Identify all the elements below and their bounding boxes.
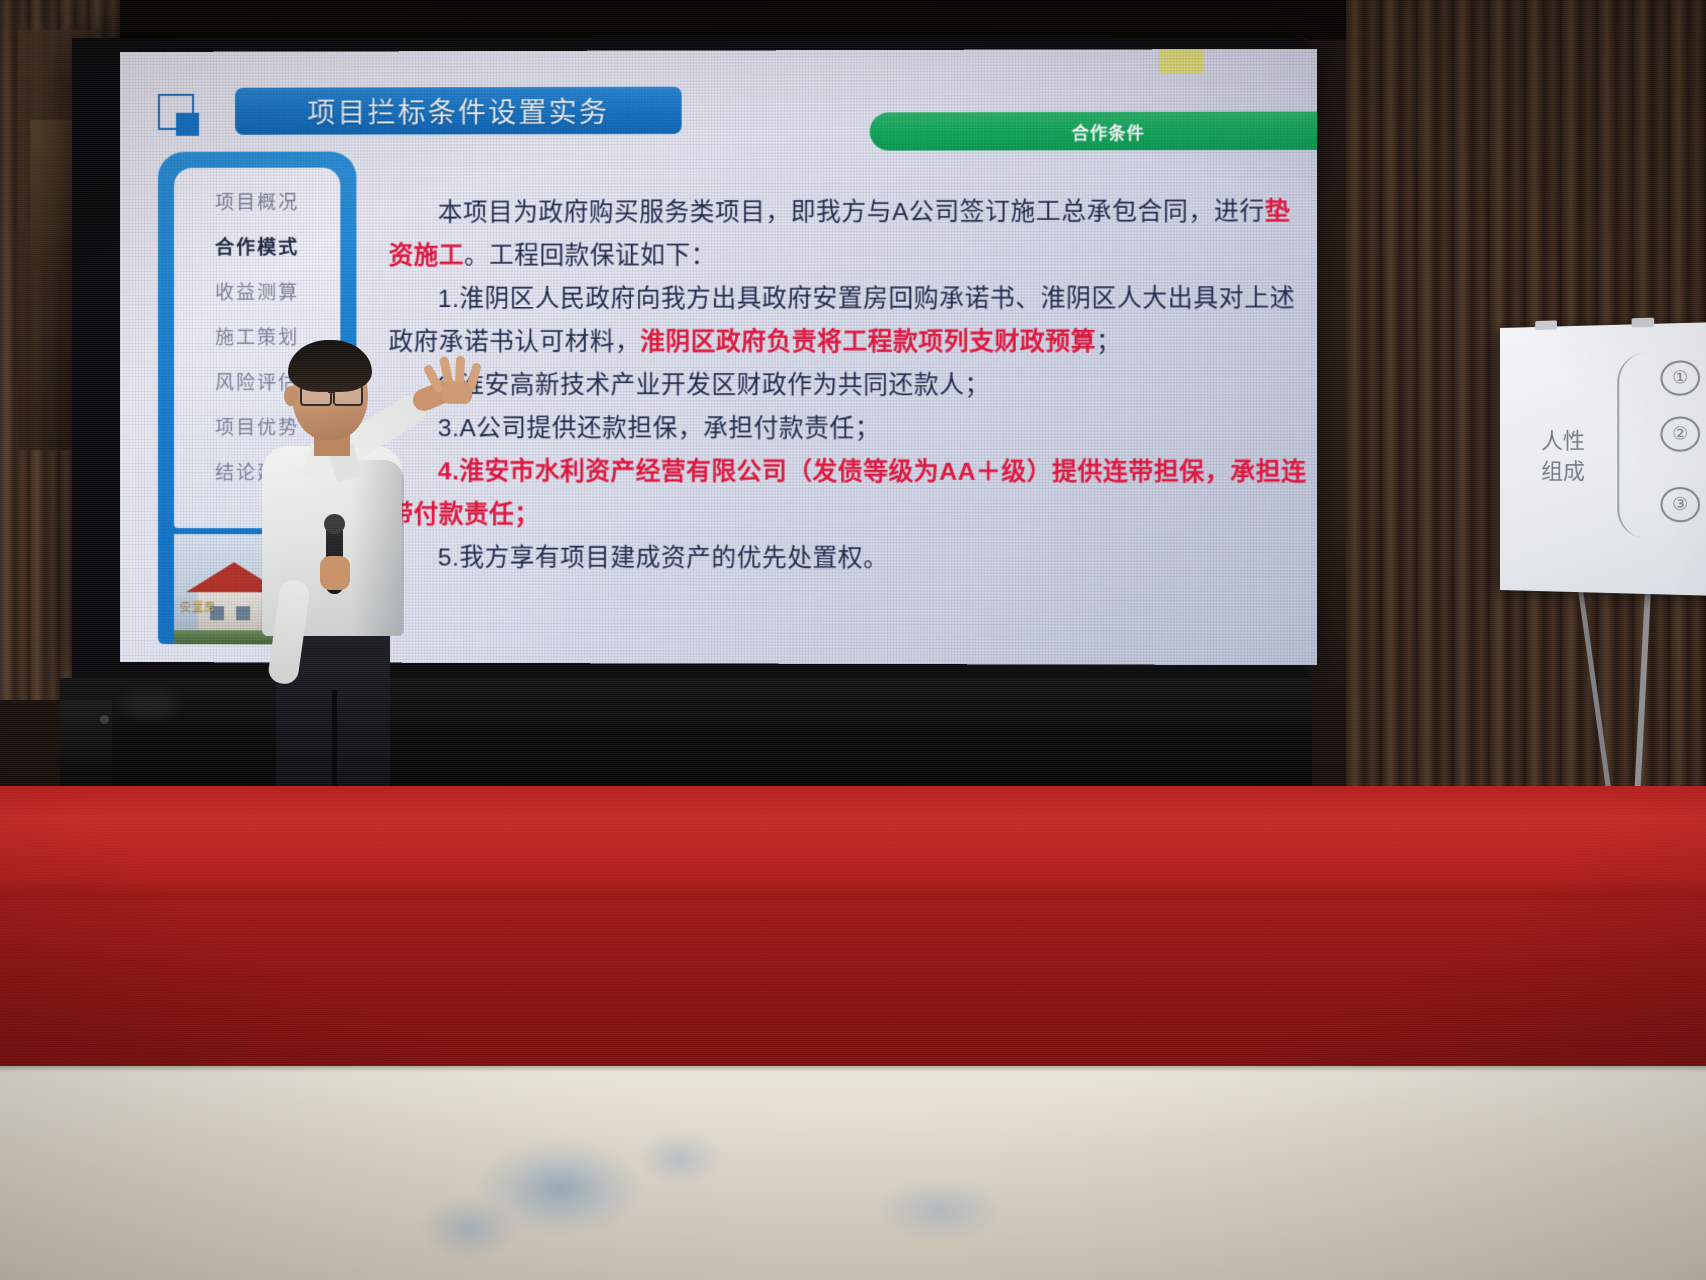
intro-text-b: 。工程回款保证如下： xyxy=(464,242,716,269)
slide-body: 本项目为政府购买服务类项目，即我方与A公司签订施工总承包合同，进行垫 资施工。工… xyxy=(389,190,1270,581)
presenter-shirt-shading xyxy=(350,460,404,636)
sidebar-item-label: 项目概况 xyxy=(215,187,299,214)
presenter-hand-on-mic xyxy=(320,556,350,590)
slide-top-accent xyxy=(1159,49,1204,73)
body-line-5: 2.淮安高新技术产业开发区财政作为共同还款人； xyxy=(389,364,1270,407)
intro-text-a: 本项目为政府购买服务类项目，即我方与A公司签订施工总承包合同，进行 xyxy=(438,198,1265,226)
microphone-head xyxy=(324,514,345,534)
list-item-1-line-1: 1.淮阴区人民政府向我方出具政府安置房回购承诺书、淮阴区人大出具对上述 xyxy=(438,285,1295,313)
presentation-scene-photo: 项目拦标条件设置实务 合作条件 项目概况 合作模式 收益测算 xyxy=(0,0,1706,1280)
slide-title-pill: 项目拦标条件设置实务 xyxy=(235,87,682,135)
page-title: 项目拦标条件设置实务 xyxy=(307,90,609,131)
body-line-2: 资施工。工程回款保证如下： xyxy=(389,234,1270,278)
section-banner-label: 合作条件 xyxy=(1072,118,1145,143)
whiteboard-brace-stroke xyxy=(1617,353,1646,538)
sidebar-item-revenue-estimate[interactable]: 收益测算 xyxy=(174,272,340,310)
list-item-1-highlight: 淮阴区政府负责将工程款项列支财政预算 xyxy=(640,329,1096,356)
presenter xyxy=(240,330,470,830)
stage-speaker-box xyxy=(60,700,112,790)
square-logo-mark xyxy=(158,94,200,136)
presenter-ear xyxy=(284,386,298,406)
body-line-3: 1.淮阴区人民政府向我方出具政府安置房回购承诺书、淮阴区人大出具对上述 xyxy=(389,277,1270,321)
carpet-floral-motif-secondary xyxy=(820,1150,1120,1280)
whiteboard-note-1: 人性 xyxy=(1541,423,1585,456)
carpet-floral-motif xyxy=(380,1098,800,1280)
list-item-1-line-2-b: ； xyxy=(1096,329,1121,356)
body-line-1: 本项目为政府购买服务类项目，即我方与A公司签订施工总承包合同，进行垫 xyxy=(389,190,1270,234)
intro-highlight-a: 垫 xyxy=(1265,198,1291,225)
speaker-indicator-dot xyxy=(100,715,109,724)
list-item-5: 5.我方享有项目建成资产的优先处置权。 xyxy=(438,545,889,573)
carpet-stage-seam xyxy=(0,1066,1706,1072)
body-line-4: 政府承诺书认可材料，淮阴区政府负责将工程款项列支财政预算； xyxy=(389,321,1270,364)
list-item-2: 2.淮安高新技术产业开发区财政作为共同还款人； xyxy=(438,372,990,399)
stage-front-face xyxy=(0,786,1706,906)
body-line-7: 4.淮安市水利资产经营有限公司（发债等级为AA＋级）提供连带担保，承担连 xyxy=(389,450,1270,494)
whiteboard-marker-1: ① xyxy=(1660,360,1700,396)
whiteboard-marker-2: ② xyxy=(1660,416,1700,451)
section-banner: 合作条件 xyxy=(870,111,1317,150)
whiteboard: 人性 组成 ① ② ③ xyxy=(1500,321,1706,596)
sidebar-item-label: 合作模式 xyxy=(215,232,299,259)
body-line-9: 5.我方享有项目建成资产的优先处置权。 xyxy=(389,536,1270,581)
intro-highlight-b: 资施工 xyxy=(389,243,464,270)
sidebar-photo-badge: 安置房 xyxy=(180,598,216,614)
sidebar-item-cooperation-mode[interactable]: 合作模式 xyxy=(174,227,340,265)
stage-lower-face xyxy=(0,900,1706,1070)
presenter-hair xyxy=(288,340,372,392)
body-line-6: 3.A公司提供还款担保，承担付款责任； xyxy=(389,407,1270,451)
list-item-3: 3.A公司提供还款担保，承担付款责任； xyxy=(438,415,880,442)
skirt-highlight xyxy=(120,690,180,720)
body-line-8: 带付款责任； xyxy=(389,493,1270,537)
whiteboard-marker-3: ③ xyxy=(1660,487,1700,523)
whiteboard-note-2: 组成 xyxy=(1541,454,1585,487)
sidebar-item-label: 收益测算 xyxy=(215,277,299,304)
presenter-pointing-hand xyxy=(436,356,476,400)
sidebar-item-overview[interactable]: 项目概况 xyxy=(174,182,340,220)
list-item-4-line-1: 淮安市水利资产经营有限公司（发债等级为AA＋级）提供连带担保，承担连 xyxy=(459,458,1306,486)
